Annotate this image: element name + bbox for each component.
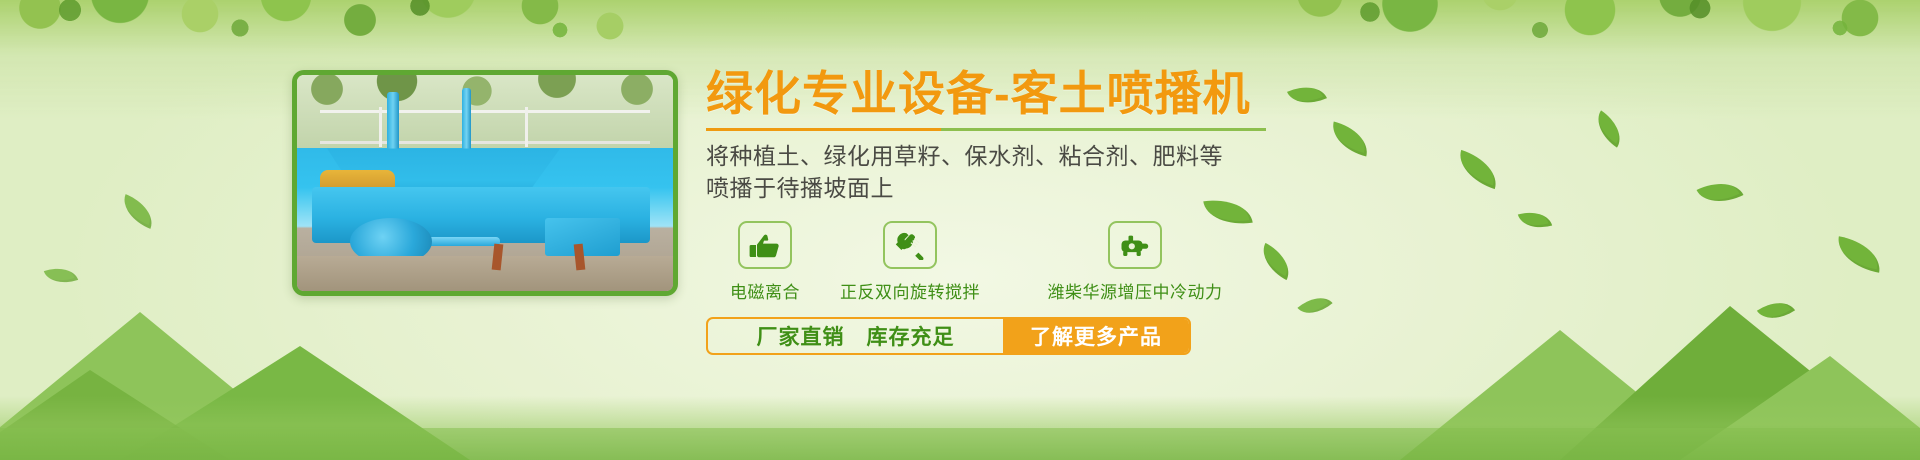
thumbs-up-icon (738, 221, 792, 269)
product-photo (292, 70, 678, 296)
banner-content: 绿化专业设备-客土喷播机 将种植土、绿化用草籽、保水剂、粘合剂、肥料等 喷播于待… (706, 68, 1706, 355)
feature-item: 潍柴华源增压中冷动力 (1020, 221, 1250, 303)
engine-power-icon (1108, 221, 1162, 269)
cta-tag-1: 厂家直销 (757, 321, 845, 351)
feature-item: 正反双向旋转搅拌 (824, 221, 996, 303)
cta-bar: 厂家直销 库存充足 了解更多产品 (706, 317, 1191, 355)
page-title: 绿化专业设备-客土喷播机 (706, 68, 1706, 121)
top-foliage-accent-decoration (0, 0, 1920, 70)
subtitle-line-1: 将种植土、绿化用草籽、保水剂、粘合剂、肥料等 (706, 140, 1706, 173)
banner-subtitle: 将种植土、绿化用草籽、保水剂、粘合剂、肥料等 喷播于待播坡面上 (706, 140, 1706, 205)
feature-label: 正反双向旋转搅拌 (840, 278, 980, 303)
leaf-icon (117, 194, 159, 229)
feature-label: 潍柴华源增压中冷动力 (1048, 278, 1223, 303)
promo-banner: 绿化专业设备-客土喷播机 将种植土、绿化用草籽、保水剂、粘合剂、肥料等 喷播于待… (0, 0, 1920, 460)
title-divider (706, 128, 1266, 131)
wrench-screwdriver-icon (883, 221, 937, 269)
subtitle-line-2: 喷播于待播坡面上 (706, 172, 1706, 205)
cta-tag-2: 库存充足 (867, 321, 955, 351)
feature-label: 电磁离合 (730, 278, 800, 303)
cta-tags: 厂家直销 库存充足 (708, 319, 1003, 353)
grass-decoration (0, 396, 1920, 460)
learn-more-button[interactable]: 了解更多产品 (1003, 319, 1189, 353)
feature-item: 电磁离合 (706, 221, 824, 303)
feature-list: 电磁离合 正反双向旋转搅拌 (706, 221, 1706, 303)
